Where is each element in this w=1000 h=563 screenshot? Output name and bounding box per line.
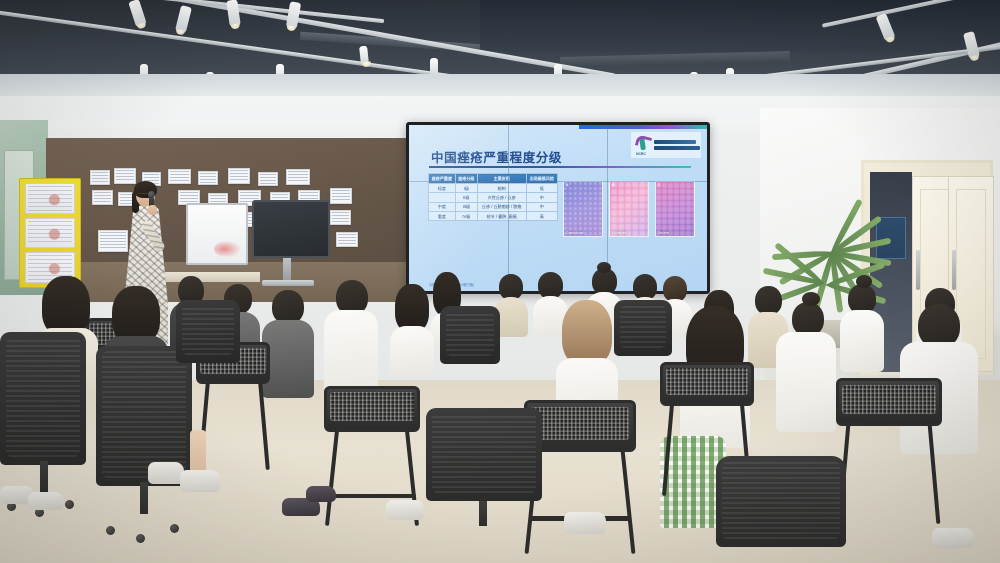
posted-paper [90, 170, 110, 185]
shoe [306, 486, 336, 502]
cell-grade: I级 [455, 184, 477, 193]
cell-grade: IV级 [455, 212, 477, 221]
presentation-screen[interactable]: 中国痤疮严重程度分级 NCRC 痤疮严重度 痤疮分级 主要皮损 出现 [406, 122, 710, 294]
posted-paper [114, 168, 136, 184]
table-row: 轻度 I级 粉刺 低 [429, 184, 558, 193]
clinical-image-a: A Comedonal [563, 181, 603, 237]
video-wall-seam [508, 125, 509, 291]
posted-paper [92, 190, 113, 205]
office-chair[interactable] [426, 408, 542, 563]
cell-lesion: 炎性丘疹 / 丘疹 [477, 193, 526, 202]
table-row: II级 炎性丘疹 / 丘疹 中 [429, 193, 558, 202]
chair-backrest [614, 300, 672, 356]
logo-text-line-1 [654, 140, 696, 144]
presenter-hand [148, 205, 157, 215]
chair-mesh [666, 368, 749, 395]
logo-text-line-2 [654, 146, 700, 150]
posted-paper [228, 168, 250, 184]
door-handle[interactable] [952, 250, 956, 290]
poster-sheet [25, 218, 75, 249]
posted-paper [168, 169, 191, 184]
office-chair[interactable] [614, 300, 672, 362]
posted-paper [336, 232, 358, 247]
door-handle[interactable] [916, 250, 920, 290]
hair-bun [802, 292, 820, 306]
chair-caster [170, 524, 179, 533]
chair-caster [136, 534, 145, 543]
whiteboard-marking [214, 241, 240, 257]
slide-title: 中国痤疮严重程度分级 [431, 147, 562, 166]
chair-backrest [176, 300, 240, 363]
cell-risk: 低 [526, 184, 558, 193]
video-wall-seam [409, 181, 707, 182]
cell-risk: 中 [526, 202, 558, 211]
cell-grade: III级 [455, 202, 477, 211]
ceiling-panel [480, 0, 1000, 52]
office-chair[interactable] [96, 346, 192, 546]
logo-abbreviation: NCRC [636, 152, 646, 156]
cell-grade: II级 [455, 193, 477, 202]
hair-bun [856, 275, 872, 288]
table-header-row: 痤疮严重度 痤疮分级 主要皮损 出现瘢痕风险 [429, 174, 558, 184]
clinical-image-c: C Severe [655, 181, 695, 237]
cell-severity: 轻度 [429, 184, 456, 193]
hair [395, 284, 429, 332]
seminar-room-photo: 中国痤疮严重程度分级 NCRC 痤疮严重度 痤疮分级 主要皮损 出现 [0, 0, 1000, 563]
chair-backrest [440, 306, 500, 364]
audience-member [324, 280, 378, 398]
monitor-stand [283, 258, 291, 282]
image-caption: Severe [658, 231, 669, 235]
office-chair[interactable] [176, 300, 240, 370]
wall-monitor [252, 200, 330, 258]
head [272, 290, 304, 324]
cell-severity [429, 193, 456, 202]
slide-surface: 中国痤疮严重程度分级 NCRC 痤疮严重度 痤疮分级 主要皮损 出现 [409, 125, 707, 291]
monitor-base [262, 280, 314, 286]
cell-risk: 中 [526, 193, 558, 202]
folding-chair[interactable] [324, 386, 420, 432]
cell-lesion: 粉刺 [477, 184, 526, 193]
office-chair[interactable] [440, 306, 500, 370]
yellow-poster-board [19, 178, 81, 288]
cell-risk: 高 [526, 212, 558, 221]
chair-backrest [0, 332, 86, 465]
hair-bun [597, 262, 611, 273]
audience-member [840, 282, 884, 374]
column-header: 痤疮分级 [455, 174, 477, 184]
cell-severity: 重度 [429, 212, 456, 221]
chair-base [104, 510, 185, 540]
table-row: 重度 IV级 结节 / 囊肿, 瘢痕 高 [429, 212, 558, 221]
head [538, 272, 563, 299]
audience-member [776, 300, 836, 432]
chair-backrest [426, 408, 542, 501]
torso [390, 326, 434, 376]
slide-accent-bar [579, 125, 707, 129]
posted-paper [286, 169, 310, 185]
torso [776, 332, 836, 432]
shoe [180, 470, 220, 492]
office-chair[interactable] [716, 456, 846, 563]
image-panel-label: B [612, 183, 615, 187]
cell-lesion: 丘疹 / 丘脓疱疹 / 脓疱 [477, 202, 526, 211]
table-row: 中度 III级 丘疹 / 丘脓疱疹 / 脓疱 中 [429, 202, 558, 211]
image-panel-label: C [658, 183, 661, 187]
image-caption: Moderate [612, 231, 626, 235]
column-header: 主要皮损 [477, 174, 526, 184]
logo-mark-icon: NCRC [634, 136, 651, 155]
column-header: 出现瘢痕风险 [526, 174, 558, 184]
hair [42, 276, 90, 336]
head [792, 302, 824, 336]
shoe [564, 512, 606, 534]
shoe [386, 500, 424, 520]
posted-paper [258, 172, 278, 186]
clinical-image-row: A Comedonal B Moderate C Severe [563, 181, 695, 237]
image-caption: Comedonal [566, 231, 583, 235]
chair-crossbar [330, 494, 416, 498]
chair-caster [65, 500, 74, 509]
cell-severity: 中度 [429, 202, 456, 211]
chair-post [479, 501, 487, 526]
torso [324, 310, 378, 396]
whiteboard [186, 203, 248, 265]
folding-chair[interactable] [836, 378, 942, 426]
logo-text [654, 140, 700, 150]
hair [562, 300, 612, 366]
shoe [28, 492, 64, 510]
chair-mesh [330, 392, 414, 421]
folding-chair[interactable] [660, 362, 754, 406]
chair-mesh [531, 407, 630, 439]
shoe [148, 462, 184, 484]
cell-lesion: 结节 / 囊肿, 瘢痕 [477, 212, 526, 221]
chair-caster [106, 526, 115, 535]
posted-paper [330, 210, 351, 225]
slide-title-rule [429, 166, 691, 168]
chair-backrest [716, 456, 846, 547]
posted-paper [330, 188, 352, 204]
poster-sheet [25, 183, 75, 214]
audience-member [496, 274, 526, 340]
chair-mesh [842, 385, 935, 415]
column-header: 痤疮严重度 [429, 174, 456, 184]
image-panel-label: A [566, 183, 569, 187]
clinical-image-b: B Moderate [609, 181, 649, 237]
torso [840, 310, 884, 372]
institution-logo: NCRC [631, 132, 701, 158]
posted-paper [198, 171, 218, 185]
audience-member [390, 284, 434, 376]
shoe [932, 528, 974, 548]
